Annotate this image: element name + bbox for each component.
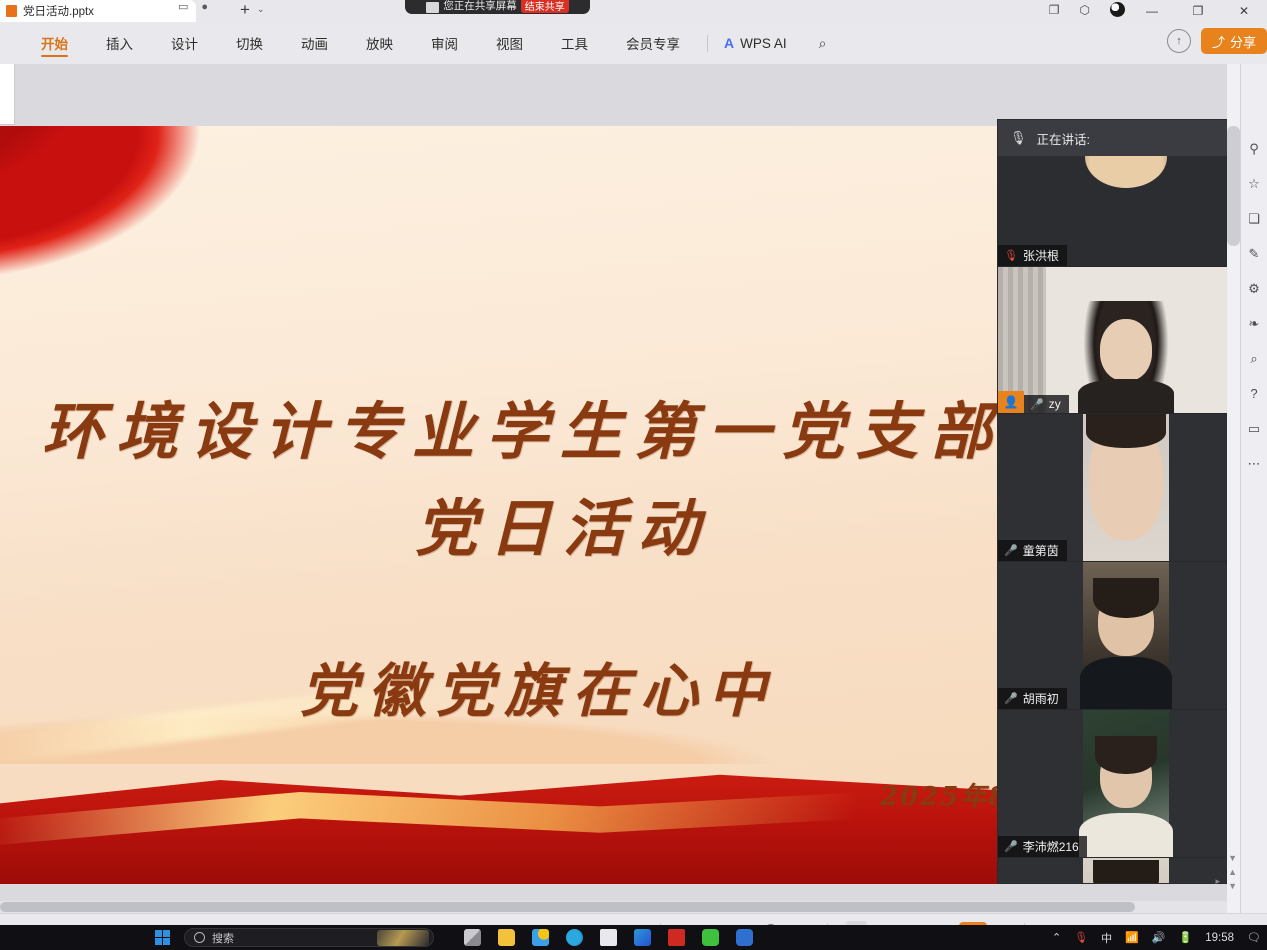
volume-icon[interactable]: 🔊 xyxy=(1152,931,1166,944)
video-tile[interactable]: 🎙 张洪根 xyxy=(998,156,1253,267)
ribbon-right-actions: ↑ ⤴ 分享 xyxy=(1167,28,1267,54)
ribbon-divider xyxy=(707,35,708,52)
maximize-button[interactable]: ❐ xyxy=(1175,0,1221,21)
tab-animation[interactable]: 动画 xyxy=(282,23,347,63)
new-tab-button[interactable]: + xyxy=(240,1,250,18)
slide-red-ribbon-decor-2 xyxy=(0,126,220,276)
participant-name: 李沛燃216 xyxy=(1023,838,1079,855)
participant-name-tag: 🎤 李沛燃216 xyxy=(998,836,1087,857)
end-share-button[interactable]: 结束共享 xyxy=(521,0,569,13)
search-icon xyxy=(194,932,205,943)
more-icon[interactable]: ⋯ xyxy=(1248,457,1261,470)
search-icon[interactable]: ⌕ xyxy=(819,35,827,52)
beautify-wand-icon[interactable]: ✎ xyxy=(1249,247,1260,260)
slide-date: 2025年8月 xyxy=(880,776,1000,813)
participant-name: 童第茵 xyxy=(1023,542,1059,559)
titlebar-tools: ❐ ⬡ xyxy=(1049,2,1125,17)
notification-icon[interactable]: 🗨 xyxy=(1247,931,1261,944)
share-icon: ⤴ xyxy=(1212,32,1225,51)
search-placeholder: 搜索 xyxy=(212,930,234,946)
present-icon[interactable]: ▭ xyxy=(178,2,188,13)
toast-text: 您正在共享屏幕 xyxy=(443,0,517,13)
taskbar-apps xyxy=(448,929,753,946)
mic-on-icon: 🎙 xyxy=(1004,249,1018,262)
settings-gear-icon[interactable]: ⚙ xyxy=(1248,282,1260,295)
mic-muted-icon: 🎤 xyxy=(1004,544,1018,557)
panel-icon[interactable]: ▭ xyxy=(1248,422,1260,435)
mic-icon[interactable]: 🎙 xyxy=(1074,931,1088,944)
meeting-icon[interactable] xyxy=(736,929,753,946)
video-tile[interactable]: 👤 🎤 zy xyxy=(998,267,1253,414)
toast-logo-icon xyxy=(426,2,439,13)
task-view-icon[interactable] xyxy=(464,929,481,946)
share-button[interactable]: ⤴ 分享 xyxy=(1201,28,1267,54)
video-stream xyxy=(998,414,1253,561)
tab-view[interactable]: 视图 xyxy=(477,23,542,63)
video-stream xyxy=(998,267,1253,413)
search-input[interactable]: 搜索 xyxy=(184,928,434,947)
windows-start-icon[interactable] xyxy=(155,930,170,945)
clock[interactable]: 19:58 xyxy=(1205,932,1234,944)
tab-insert[interactable]: 插入 xyxy=(87,23,152,63)
cube-icon[interactable]: ⬡ xyxy=(1080,4,1090,16)
slide-subtitle: 党徽党旗在心中 xyxy=(300,644,776,728)
slide-thumbnail-panel[interactable] xyxy=(0,64,15,125)
video-stream xyxy=(998,710,1253,857)
find-icon[interactable]: ⌕ xyxy=(1250,352,1257,365)
fit-marker-icon: ▸ xyxy=(1215,876,1220,887)
tab-start[interactable]: 开始 xyxy=(22,23,87,63)
tab-slideshow[interactable]: 放映 xyxy=(347,23,412,63)
favorite-star-icon[interactable]: ☆ xyxy=(1248,177,1260,190)
window-controls: — ❐ ✕ xyxy=(1129,0,1267,21)
page-navigation-arrows[interactable]: ▼ ▲ ▼ xyxy=(1228,853,1237,891)
horizontal-scrollbar[interactable] xyxy=(0,901,1227,913)
store-icon[interactable] xyxy=(600,929,617,946)
shapes-icon[interactable]: ❏ xyxy=(1248,212,1260,225)
tab-tools[interactable]: 工具 xyxy=(542,23,607,63)
tab-member[interactable]: 会员专享 xyxy=(607,23,699,63)
help-icon[interactable]: ? xyxy=(1250,387,1257,400)
wechat-icon[interactable] xyxy=(702,929,719,946)
participant-name-tag: 🎤 zy xyxy=(1024,395,1069,413)
minimize-button[interactable]: — xyxy=(1129,0,1175,21)
cloud-upload-icon[interactable]: ↑ xyxy=(1167,29,1191,53)
file-tab[interactable]: 党日活动.pptx xyxy=(0,0,196,22)
wifi-icon[interactable]: 📶 xyxy=(1125,931,1139,944)
wps-icon[interactable] xyxy=(668,929,685,946)
user-avatar-icon[interactable] xyxy=(1110,2,1125,17)
tab-design[interactable]: 设计 xyxy=(152,23,217,63)
close-button[interactable]: ✕ xyxy=(1221,0,1267,21)
participant-name: 张洪根 xyxy=(1023,247,1059,264)
ime-indicator[interactable]: 中 xyxy=(1101,930,1112,946)
slide-canvas[interactable]: 环境设计专业学生第一党支部 党日活动 党徽党旗在心中 2025年8月 xyxy=(0,126,1000,884)
participant-name: zy xyxy=(1049,397,1061,411)
pptx-file-icon xyxy=(6,5,17,17)
style-icon[interactable]: ⚲ xyxy=(1249,142,1259,155)
participant-name-tag: 🎙 张洪根 xyxy=(998,245,1067,266)
slide-title-line1: 环境设计专业学生第一党支部 xyxy=(42,381,1000,471)
video-stream xyxy=(998,562,1253,709)
mic-muted-icon: 🎤 xyxy=(1004,840,1018,853)
feather-icon[interactable]: ❧ xyxy=(1249,317,1260,330)
edge-icon[interactable] xyxy=(566,929,583,946)
vertical-scrollbar-thumb[interactable] xyxy=(1227,126,1240,246)
ribbon-bar: 开始 插入 设计 切换 动画 放映 审阅 视图 工具 会员专享 A WPS AI… xyxy=(0,22,1267,64)
tab-review[interactable]: 审阅 xyxy=(412,23,477,63)
wps-presentation-window: 党日活动.pptx ▭ ● + ⌄ 您正在共享屏幕 结束共享 ❐ ⬡ — ❐ ✕… xyxy=(0,0,1267,950)
tray-chevron-icon[interactable]: ⌃ xyxy=(1052,931,1061,944)
file-tab-label: 党日活动.pptx xyxy=(23,3,94,19)
page-up-icon[interactable]: ▲ xyxy=(1228,867,1237,877)
right-tool-rail: ⚲ ☆ ❏ ✎ ⚙ ❧ ⌕ ? ▭ ⋯ xyxy=(1240,64,1267,913)
wps-ai-logo-icon: A xyxy=(724,35,734,51)
video-tile[interactable]: 🎤 童第茵 xyxy=(998,414,1253,562)
participant-name-tag: 🎤 胡雨初 xyxy=(998,688,1067,709)
share-label: 分享 xyxy=(1230,32,1256,51)
new-tab-group: + ⌄ xyxy=(240,1,264,18)
battery-icon[interactable]: 🔋 xyxy=(1179,931,1193,944)
slide-title-line2: 党日活动 xyxy=(415,478,711,568)
tab-transition[interactable]: 切换 xyxy=(217,23,282,63)
office-icon[interactable] xyxy=(634,929,651,946)
microphone-icon: 🎙 xyxy=(1010,130,1027,146)
file-explorer-icon[interactable] xyxy=(498,929,515,946)
participant-name: 胡雨初 xyxy=(1023,690,1059,707)
video-tile[interactable]: 🎤 胡雨初 xyxy=(998,562,1253,710)
wps-ai-label: WPS AI xyxy=(740,36,787,51)
tab-strip: 党日活动.pptx ▭ ● + ⌄ 您正在共享屏幕 结束共享 ❐ ⬡ — ❐ ✕ xyxy=(0,0,1267,22)
mic-muted-icon: 🎤 xyxy=(1030,398,1044,411)
ribbon-tabs: 开始 插入 设计 切换 动画 放映 审阅 视图 工具 会员专享 A WPS AI… xyxy=(0,23,826,63)
editor-work-area: 环境设计专业学生第一党支部 党日活动 党徽党旗在心中 2025年8月 🎙 正在讲… xyxy=(0,64,1267,913)
horizontal-scrollbar-thumb[interactable] xyxy=(0,902,1135,912)
restore-window-icon[interactable]: ❐ xyxy=(1049,4,1060,16)
page-down-icon[interactable]: ▼ xyxy=(1228,853,1237,863)
host-badge-icon: 👤 xyxy=(998,391,1024,413)
record-dot-icon[interactable]: ● xyxy=(201,2,208,13)
screen-share-toast: 您正在共享屏幕 结束共享 xyxy=(405,0,590,14)
new-tab-chevron-icon[interactable]: ⌄ xyxy=(257,4,265,15)
search-thumbnail xyxy=(377,930,429,946)
taskbar-left: 搜索 xyxy=(0,928,753,947)
speaking-label: 正在讲话: xyxy=(1037,129,1090,148)
page-next-icon[interactable]: ▼ xyxy=(1228,881,1237,891)
weather-icon[interactable] xyxy=(532,929,549,946)
mic-muted-icon: 🎤 xyxy=(1004,692,1018,705)
participant-name-tag: 🎤 童第茵 xyxy=(998,540,1067,561)
meeting-panel-header: 🎙 正在讲话: ⋯ xyxy=(998,120,1253,156)
meeting-video-panel[interactable]: 🎙 正在讲话: ⋯ 🎙 张洪根 xyxy=(998,120,1253,883)
video-tile[interactable]: 🎤 李沛燃216 xyxy=(998,710,1253,858)
tab-tools: ▭ ● xyxy=(178,2,208,13)
taskbar-tray: ⌃ 🎙 中 📶 🔊 🔋 19:58 🗨 xyxy=(1052,930,1261,946)
windows-taskbar: 搜索 ⌃ 🎙 中 📶 🔊 🔋 19:58 🗨 xyxy=(0,925,1267,950)
wps-ai-button[interactable]: A WPS AI xyxy=(716,35,795,51)
